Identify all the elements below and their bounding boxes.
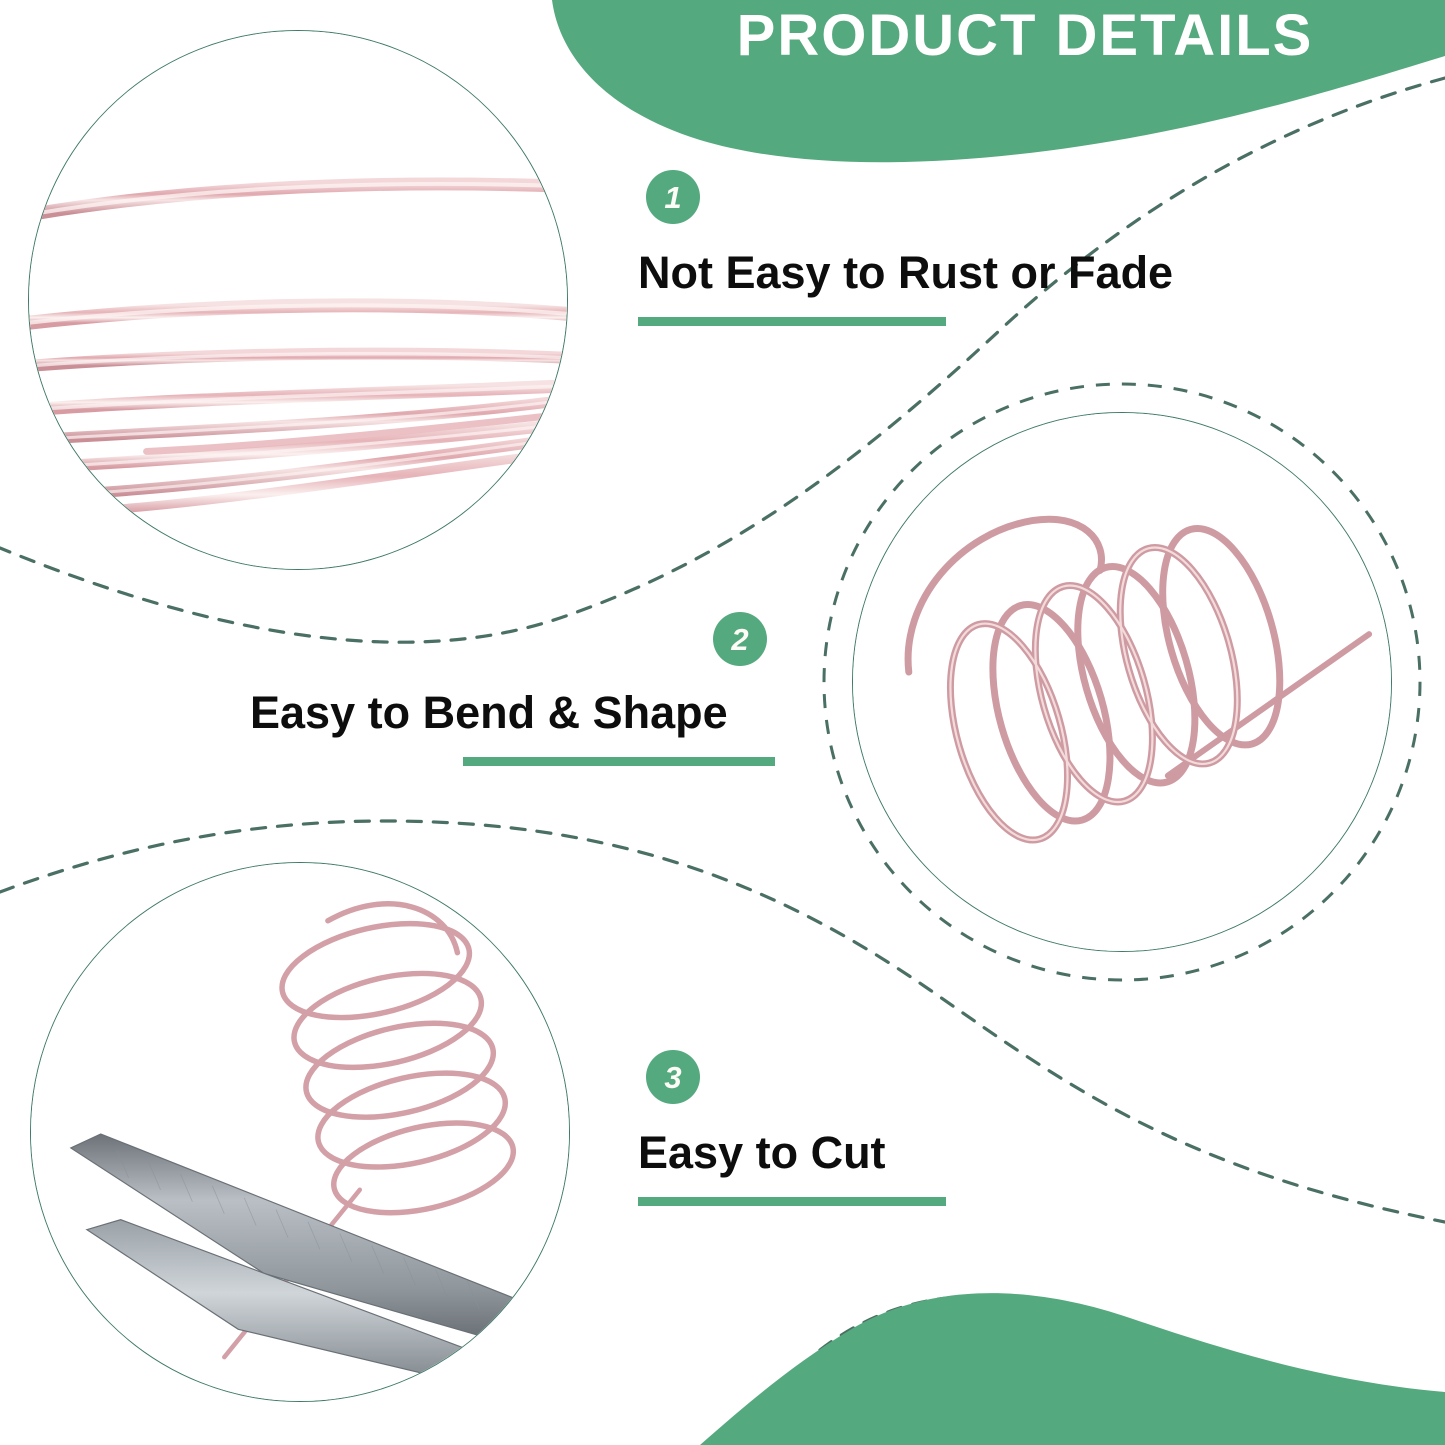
scissors-cutting-wire-photo [30, 862, 570, 1402]
cut-wire-illustration [30, 862, 570, 1402]
feature-badge-row-2: 2 [250, 612, 775, 666]
feature-title-1: Not Easy to Rust or Fade [638, 248, 1173, 298]
dashed-curve-bottom-wave [820, 1296, 1445, 1443]
rose-gold-wire-coil-photo [852, 412, 1392, 952]
wire-strands-illustration [28, 30, 568, 570]
feature-block-1: 1 Not Easy to Rust or Fade [638, 170, 1173, 326]
page-title: PRODUCT DETAILS [630, 6, 1420, 67]
feature-title-2: Easy to Bend & Shape [250, 688, 775, 738]
feature-underline-1 [638, 317, 946, 326]
feature-title-3: Easy to Cut [638, 1128, 946, 1178]
feature-number-badge-2: 2 [713, 612, 767, 666]
feature-underline-2 [463, 757, 775, 766]
feature-block-3: 3 Easy to Cut [638, 1050, 946, 1206]
rose-gold-wire-strands-photo [28, 30, 568, 570]
wire-coil-illustration [852, 412, 1392, 952]
feature-number-badge-3: 3 [646, 1050, 700, 1104]
feature-block-2: 2 Easy to Bend & Shape [250, 612, 775, 766]
feature-underline-3 [638, 1197, 946, 1206]
product-details-infographic: PRODUCT DETAILS [0, 0, 1445, 1445]
feature-number-badge-1: 1 [646, 170, 700, 224]
bottom-wave-path [700, 1293, 1445, 1445]
